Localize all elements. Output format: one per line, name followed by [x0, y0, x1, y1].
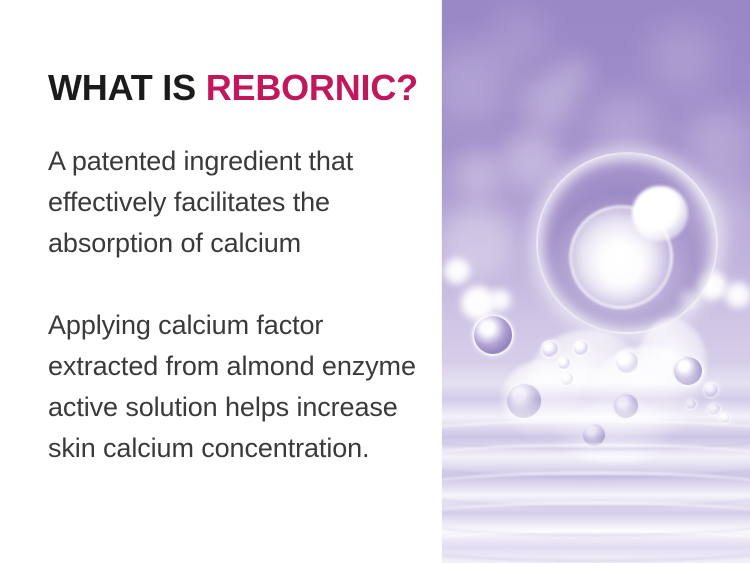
pane-divider: [441, 0, 442, 563]
bokeh-blob: [591, 92, 657, 158]
bokeh-blob: [489, 10, 549, 70]
bokeh-highlight: [725, 282, 750, 308]
small-bubble: [573, 340, 589, 356]
bokeh-blob: [647, 24, 717, 94]
small-bubble: [685, 398, 697, 410]
bokeh-blob: [441, 44, 509, 122]
page-title-plain: WHAT IS: [48, 67, 206, 108]
bokeh-blob: [687, 110, 749, 172]
small-bubble: [557, 356, 571, 370]
small-bubble: [672, 355, 704, 387]
bokeh-blob: [455, 150, 503, 198]
small-bubble: [719, 412, 731, 424]
water-ripple: [441, 472, 750, 508]
small-bubble: [703, 382, 719, 398]
bokeh-blob: [553, 55, 593, 95]
text-pane: WHAT IS REBORNIC? A patented ingredient …: [0, 0, 441, 563]
body-paragraph-2: Applying calcium factor extracted from a…: [48, 305, 428, 469]
small-bubble: [560, 372, 574, 386]
bubble-inner-ring: [569, 205, 673, 309]
small-bubble: [581, 422, 607, 448]
bokeh-highlight: [444, 258, 470, 284]
page-title-accent: REBORNIC?: [206, 67, 418, 108]
small-bubble: [612, 392, 640, 420]
bokeh-blob: [503, 130, 561, 188]
water-ripple: [441, 502, 750, 536]
water-ripple: [441, 444, 750, 478]
bokeh-blob: [521, 75, 575, 129]
small-bubble: [505, 382, 543, 420]
product-image: [441, 0, 750, 563]
small-bubble: [472, 314, 514, 356]
slide-root: WHAT IS REBORNIC? A patented ingredient …: [0, 0, 750, 563]
bokeh-blob: [441, 205, 513, 277]
body-paragraph-1: A patented ingredient that effectively f…: [48, 141, 428, 264]
water-ripple: [441, 530, 750, 562]
page-title: WHAT IS REBORNIC?: [48, 69, 418, 107]
small-bubble: [615, 350, 639, 374]
bokeh-highlight: [489, 289, 511, 311]
small-bubble: [541, 340, 559, 358]
